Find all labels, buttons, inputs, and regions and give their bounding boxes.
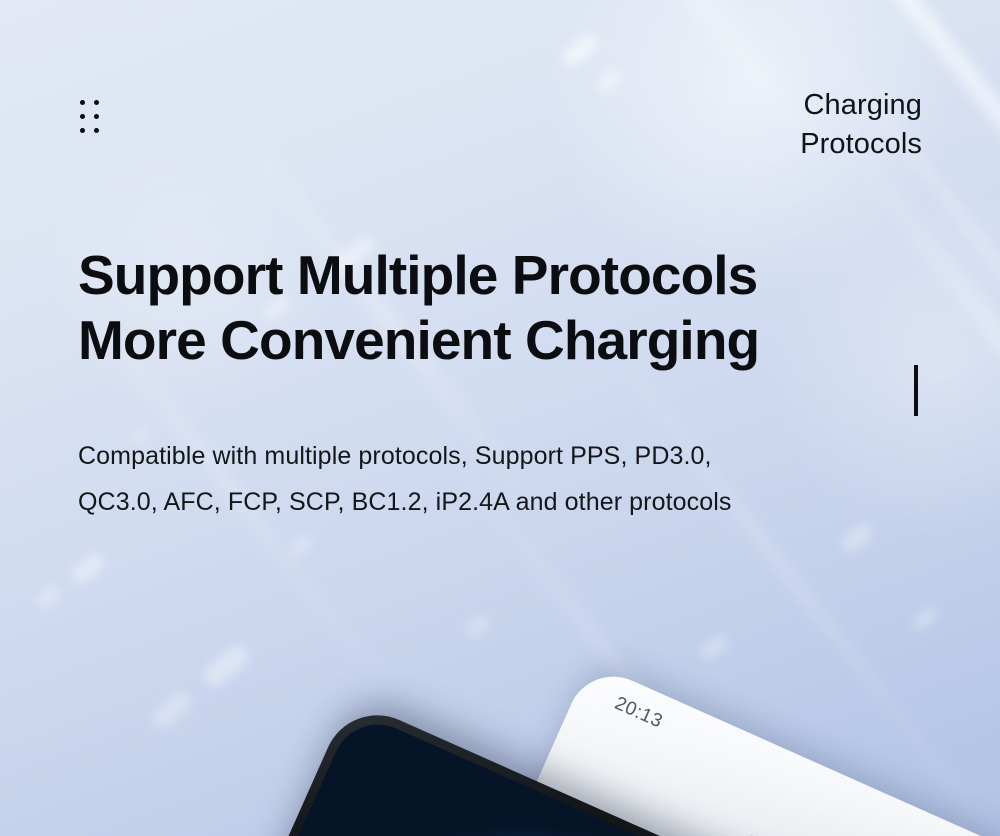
bokeh-highlight <box>199 641 253 691</box>
bokeh-highlight <box>464 613 492 640</box>
bokeh-highlight <box>839 521 875 555</box>
wallpaper-swirl <box>298 773 841 836</box>
dot <box>94 128 99 133</box>
dot <box>80 100 85 105</box>
bokeh-highlight <box>149 688 196 732</box>
description-text: Compatible with multiple protocols, Supp… <box>78 433 732 525</box>
wallpaper-swirl <box>356 831 792 836</box>
light-streak <box>729 0 1000 482</box>
dot <box>94 100 99 105</box>
headline-line-1: Support Multiple Protocols <box>78 243 759 308</box>
product-banner: Charging Protocols Support Multiple Prot… <box>0 0 1000 836</box>
bokeh-highlight <box>289 534 314 557</box>
dot-grid-icon <box>80 100 99 133</box>
description-line-2: QC3.0, AFC, FCP, SCP, BC1.2, iP2.4A and … <box>78 479 732 525</box>
dot <box>94 114 99 119</box>
camera-lens-icon <box>733 831 769 836</box>
phone-device-back: 20:13 0.7 K/s 33 <box>456 662 1000 836</box>
page-title: Support Multiple Protocols More Convenie… <box>78 243 759 373</box>
eyebrow-line-1: Charging <box>800 86 922 125</box>
light-streak <box>838 134 1000 745</box>
status-bar-time: 20:13 <box>611 693 666 733</box>
light-streak <box>384 0 835 167</box>
vertical-accent-rule <box>914 365 918 416</box>
bokeh-highlight <box>559 31 601 70</box>
dot <box>80 128 85 133</box>
eyebrow-line-2: Protocols <box>800 125 922 164</box>
background-glow <box>760 180 1000 540</box>
light-streak <box>772 0 1000 531</box>
description-line-1: Compatible with multiple protocols, Supp… <box>78 433 732 479</box>
bokeh-highlight <box>911 605 939 632</box>
phone-device-front <box>212 698 862 836</box>
bokeh-highlight <box>34 583 63 610</box>
bokeh-highlight <box>595 67 624 94</box>
bokeh-highlight <box>69 550 108 586</box>
product-photo: 20:13 0.7 K/s 33 <box>0 600 1000 836</box>
phone-screen <box>224 710 850 836</box>
dot <box>80 114 85 119</box>
eyebrow-label: Charging Protocols <box>800 86 922 164</box>
bokeh-highlight <box>699 632 731 662</box>
headline-line-2: More Convenient Charging <box>78 308 759 373</box>
